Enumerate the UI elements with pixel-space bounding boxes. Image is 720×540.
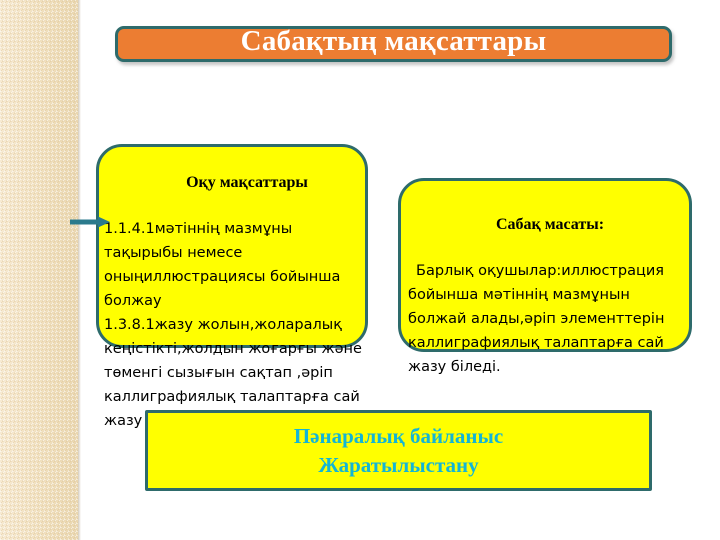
arrow-right-icon xyxy=(70,216,110,228)
lesson-goal-heading: Сабақ масаты: xyxy=(408,214,686,235)
lesson-goal-body: Барлық оқушылар:иллюстрация бойынша мәті… xyxy=(408,263,664,375)
lesson-goal-text: Сабақ масаты: Барлық оқушылар:иллюстраци… xyxy=(408,190,686,379)
page-title: Сабақтың мақсаттары xyxy=(115,21,672,61)
learning-objectives-heading: Оқу мақсаттары xyxy=(104,172,372,193)
learning-objectives-body: 1.1.4.1мәтіннің мазмұны тақырыбы немесе … xyxy=(104,217,372,433)
slide-canvas: Сабақтың мақсаттары Оқу мақсаттары 1.1.4… xyxy=(0,0,720,540)
cross-curricular-text: Пәнаралық байланыс Жаратылыстану xyxy=(145,422,652,480)
side-band-edge-shadow xyxy=(78,0,81,540)
decorative-side-band xyxy=(0,0,78,540)
